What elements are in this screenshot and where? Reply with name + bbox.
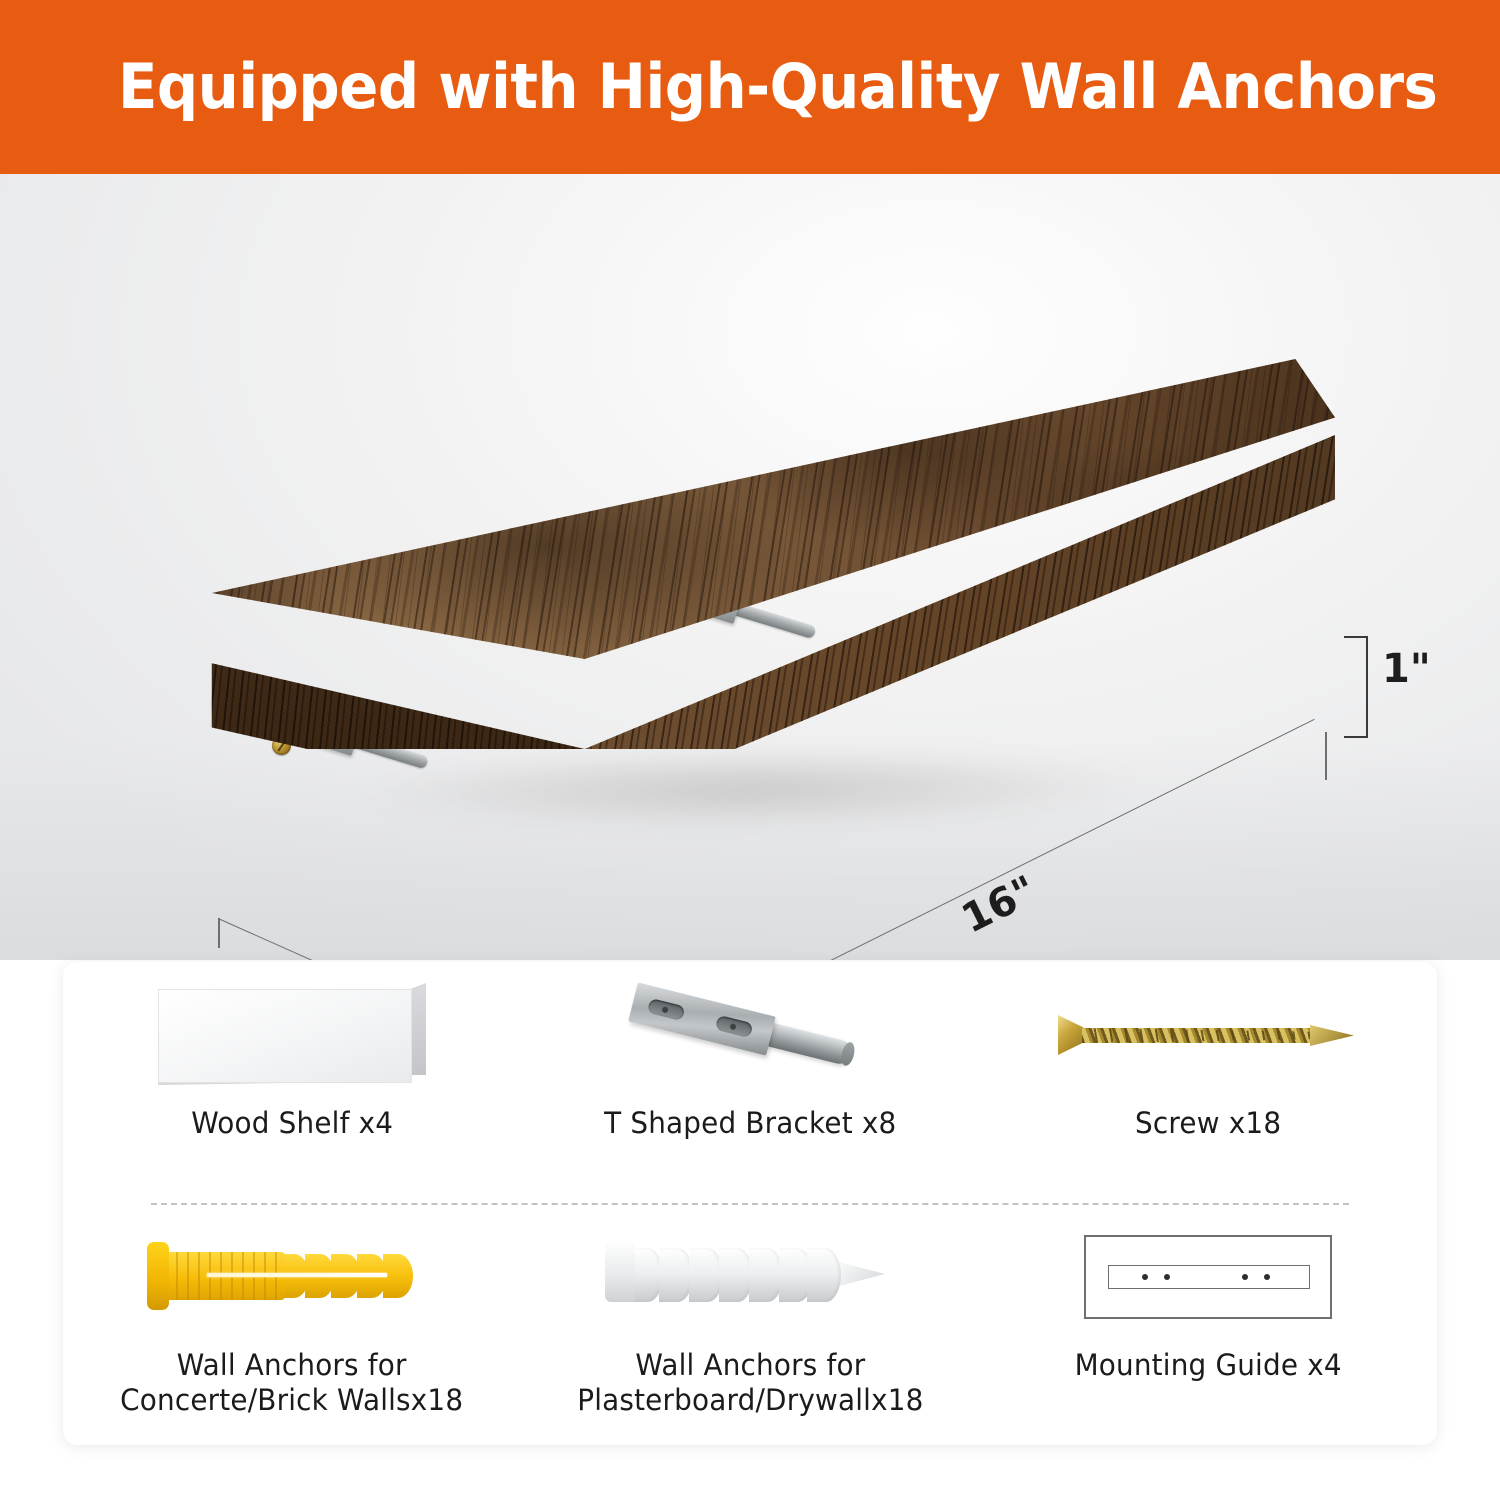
mounting-guide-hole — [1142, 1274, 1148, 1280]
anchor-collar — [147, 1242, 169, 1310]
shelf-drop-shadow — [187, 734, 1313, 844]
yellow-wall-anchor-icon — [63, 1218, 521, 1336]
part-label-wood-shelf: Wood Shelf x4 — [191, 1106, 393, 1141]
part-item-wood-shelf: Wood Shelf x4 — [63, 962, 521, 1203]
mounting-guide-icon — [979, 1218, 1437, 1336]
screw-tip — [1310, 1025, 1354, 1046]
mounting-guide-hole — [1242, 1274, 1248, 1280]
anchor-slit — [207, 1273, 387, 1277]
drywall-anchor-threads — [629, 1248, 843, 1302]
thickness-bracket-mark — [1344, 636, 1368, 738]
dim-guide-vertical-left — [218, 918, 220, 948]
anchor-rib — [383, 1254, 413, 1298]
wood-shelf-side-face — [410, 983, 426, 1075]
t-bracket-icon — [521, 976, 979, 1094]
wood-shelf-icon — [63, 976, 521, 1094]
screw-icon — [979, 976, 1437, 1094]
t-bracket-plate — [628, 982, 775, 1055]
part-label-concrete-anchor: Wall Anchors for Concerte/Brick Wallsx18 — [120, 1348, 463, 1419]
part-item-screw: Screw x18 — [979, 962, 1437, 1203]
part-item-mounting-guide: Mounting Guide x4 — [979, 1204, 1437, 1445]
part-item-concrete-anchor: Wall Anchors for Concerte/Brick Wallsx18 — [63, 1204, 521, 1445]
part-item-drywall-anchor: Wall Anchors for Plasterboard/Drywallx18 — [521, 1204, 979, 1445]
white-drywall-anchor-icon — [521, 1218, 979, 1336]
dimension-label-thickness: 1" — [1382, 646, 1431, 692]
drywall-anchor-thread — [659, 1248, 693, 1302]
page-title: Equipped with High-Quality Wall Anchors — [118, 56, 1437, 118]
part-item-t-bracket: T Shaped Bracket x8 — [521, 962, 979, 1203]
mounting-guide-hole — [1264, 1274, 1270, 1280]
screw-head — [1058, 1015, 1084, 1055]
parts-row-1: Wood Shelf x4 T Shaped Bracket x8 — [63, 962, 1437, 1203]
drywall-anchor-thread — [719, 1248, 753, 1302]
drywall-anchor-thread — [807, 1248, 841, 1302]
drywall-anchor-thread — [749, 1248, 783, 1302]
mounting-guide-hole — [1164, 1274, 1170, 1280]
shelf-assembly: 1" 16" 6.7" — [0, 174, 1500, 960]
part-label-t-bracket: T Shaped Bracket x8 — [604, 1106, 896, 1141]
drywall-anchor-thread — [689, 1248, 723, 1302]
wood-shelf-top-face — [158, 989, 412, 1083]
drywall-anchor-head — [605, 1240, 635, 1302]
dim-guide-depth-left — [218, 918, 558, 960]
hero-product-scene: 1" 16" 6.7" — [0, 174, 1500, 960]
parts-row-2: Wall Anchors for Concerte/Brick Wallsx18 — [63, 1204, 1437, 1445]
mounting-guide-strip — [1108, 1265, 1310, 1289]
part-label-drywall-anchor: Wall Anchors for Plasterboard/Drywallx18 — [577, 1348, 923, 1419]
dimension-label-length: 16" — [955, 867, 1044, 942]
product-infographic: Equipped with High-Quality Wall Anchors — [0, 0, 1500, 1500]
part-label-mounting-guide: Mounting Guide x4 — [1074, 1348, 1341, 1383]
parts-list-panel: Wood Shelf x4 T Shaped Bracket x8 — [63, 962, 1437, 1445]
dim-guide-vertical-right — [1325, 732, 1327, 780]
part-label-screw: Screw x18 — [1135, 1106, 1281, 1141]
header-banner: Equipped with High-Quality Wall Anchors — [0, 0, 1500, 174]
screw-threads — [1082, 1022, 1314, 1049]
